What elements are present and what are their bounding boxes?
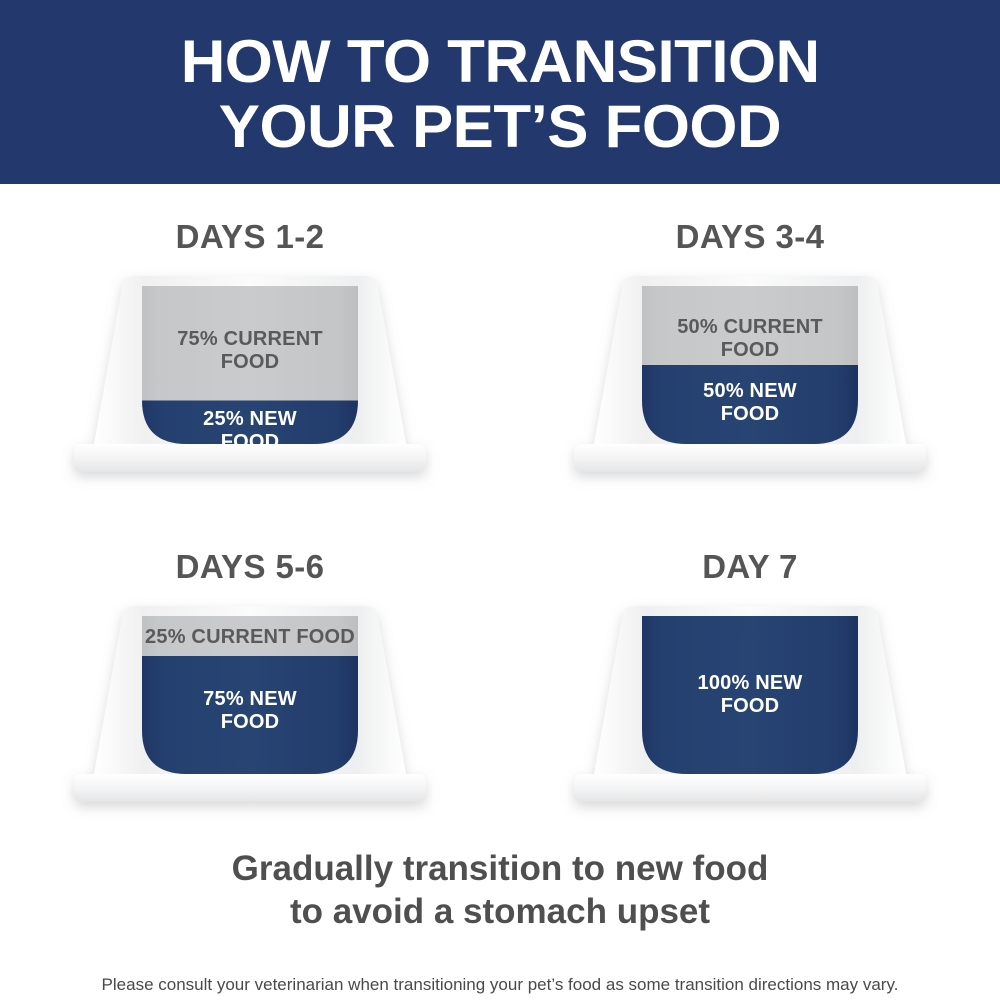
bowl-cavity	[130, 282, 370, 453]
bowl-cavity	[130, 612, 370, 782]
bowl-svg	[550, 598, 950, 828]
footer: Gradually transition to new food to avoi…	[0, 848, 1000, 995]
new-food-fill	[130, 656, 370, 782]
bowl-title: DAYS 5-6	[176, 548, 325, 586]
bowl-svg	[50, 268, 450, 498]
bowl-svg	[50, 598, 450, 828]
bowl-graphic: 25% CURRENT FOOD 75% NEW FOOD	[50, 598, 450, 828]
bowl-card-days-1-2: DAYS 1-2	[0, 184, 500, 514]
bowl-grid: DAYS 1-2	[0, 184, 1000, 844]
bowl-card-days-3-4: DAYS 3-4	[500, 184, 1000, 514]
header-banner: HOW TO TRANSITION YOUR PET’S FOOD	[0, 0, 1000, 184]
bowl-graphic: 75% CURRENT FOOD 25% NEW FOOD	[50, 268, 450, 498]
bowl-cavity	[630, 612, 870, 782]
bowl-card-day-7: DAY 7	[500, 514, 1000, 844]
bowl-graphic: 100% NEW FOOD	[550, 598, 950, 828]
header-title-line2: YOUR PET’S FOOD	[219, 95, 781, 160]
disclaimer-text: Please consult your veterinarian when tr…	[102, 975, 899, 995]
footer-headline-line1: Gradually transition to new food	[232, 848, 769, 891]
bowl-title: DAY 7	[702, 548, 798, 586]
bowl-svg	[550, 268, 950, 498]
bowl-title: DAYS 1-2	[176, 218, 325, 256]
new-food-fill	[630, 612, 870, 782]
new-food-fill	[630, 365, 870, 452]
bowl-title: DAYS 3-4	[676, 218, 825, 256]
bowl-card-days-5-6: DAYS 5-6	[0, 514, 500, 844]
header-title-line1: HOW TO TRANSITION	[181, 30, 820, 95]
bowl-cavity	[630, 282, 870, 452]
footer-headline-line2: to avoid a stomach upset	[290, 891, 710, 934]
bowl-graphic: 50% CURRENT FOOD 50% NEW FOOD	[550, 268, 950, 498]
infographic-page: HOW TO TRANSITION YOUR PET’S FOOD DAYS 1…	[0, 0, 1000, 1000]
